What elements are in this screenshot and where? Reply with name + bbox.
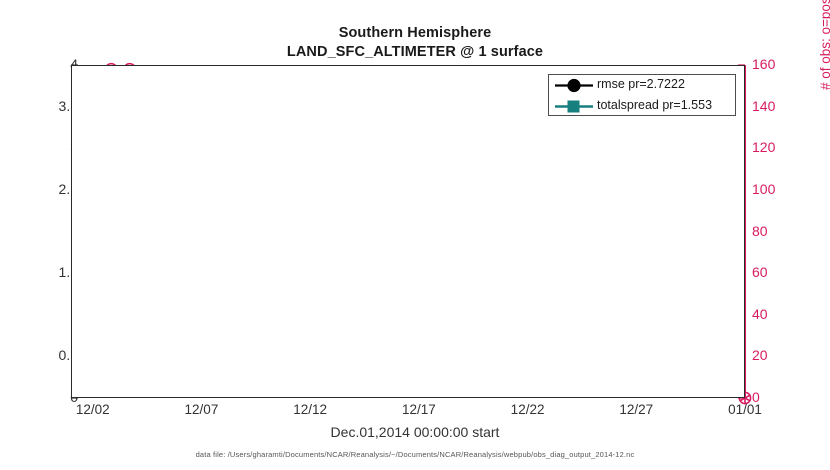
y-tick-left: 0.5 (18, 347, 78, 363)
x-tick: 12/02 (76, 402, 110, 417)
legend-item-rmse: rmse pr=2.7222 (549, 75, 737, 96)
y-tick-right: 20 (752, 347, 812, 363)
y-tick-right: 160 (752, 56, 812, 72)
y-tick-left: 4 (18, 56, 78, 72)
y-tick-right: 60 (752, 264, 812, 280)
title-line-2: LAND_SFC_ALTIMETER @ 1 surface (0, 43, 830, 62)
y-tick-right: 140 (752, 98, 812, 114)
right-axis-line (745, 65, 746, 398)
y-axis-right-label: # of obs: o=possible; *=evaluated (818, 0, 830, 90)
y-tick-right: 120 (752, 139, 812, 155)
data-file-footer: data file: /Users/gharamti/Documents/NCA… (0, 450, 830, 459)
y-tick-right: 40 (752, 306, 812, 322)
legend-marker-filled-square (553, 96, 595, 117)
chart-legend: rmse pr=2.7222 totalspread pr=1.553 (548, 74, 736, 116)
x-tick: 12/12 (293, 402, 327, 417)
y-tick-left: 1.5 (18, 264, 78, 280)
legend-item-totalspread: totalspread pr=1.553 (549, 96, 737, 117)
legend-label-totalspread: totalspread pr=1.553 (597, 98, 712, 112)
y-tick-left: 3 (18, 139, 78, 155)
x-tick: 12/17 (402, 402, 436, 417)
x-axis-label: Dec.01,2014 00:00:00 start (0, 424, 830, 440)
y-tick-left: 2.5 (18, 181, 78, 197)
legend-marker-filled-circle (553, 75, 595, 96)
y-tick-left: 3.5 (18, 98, 78, 114)
y-tick-left: 0 (18, 389, 78, 405)
y-tick-left: 2 (18, 223, 78, 239)
x-tick: 12/27 (619, 402, 653, 417)
legend-label-rmse: rmse pr=2.7222 (597, 77, 685, 91)
y-tick-right: 100 (752, 181, 812, 197)
y-tick-right: 80 (752, 223, 812, 239)
x-tick: 12/07 (185, 402, 219, 417)
chart-screenshot: Southern Hemisphere LAND_SFC_ALTIMETER @… (0, 0, 830, 470)
title-line-1: Southern Hemisphere (0, 24, 830, 43)
x-tick: 12/22 (511, 402, 545, 417)
y-tick-left: 1 (18, 306, 78, 322)
chart-title: Southern Hemisphere LAND_SFC_ALTIMETER @… (0, 24, 830, 62)
